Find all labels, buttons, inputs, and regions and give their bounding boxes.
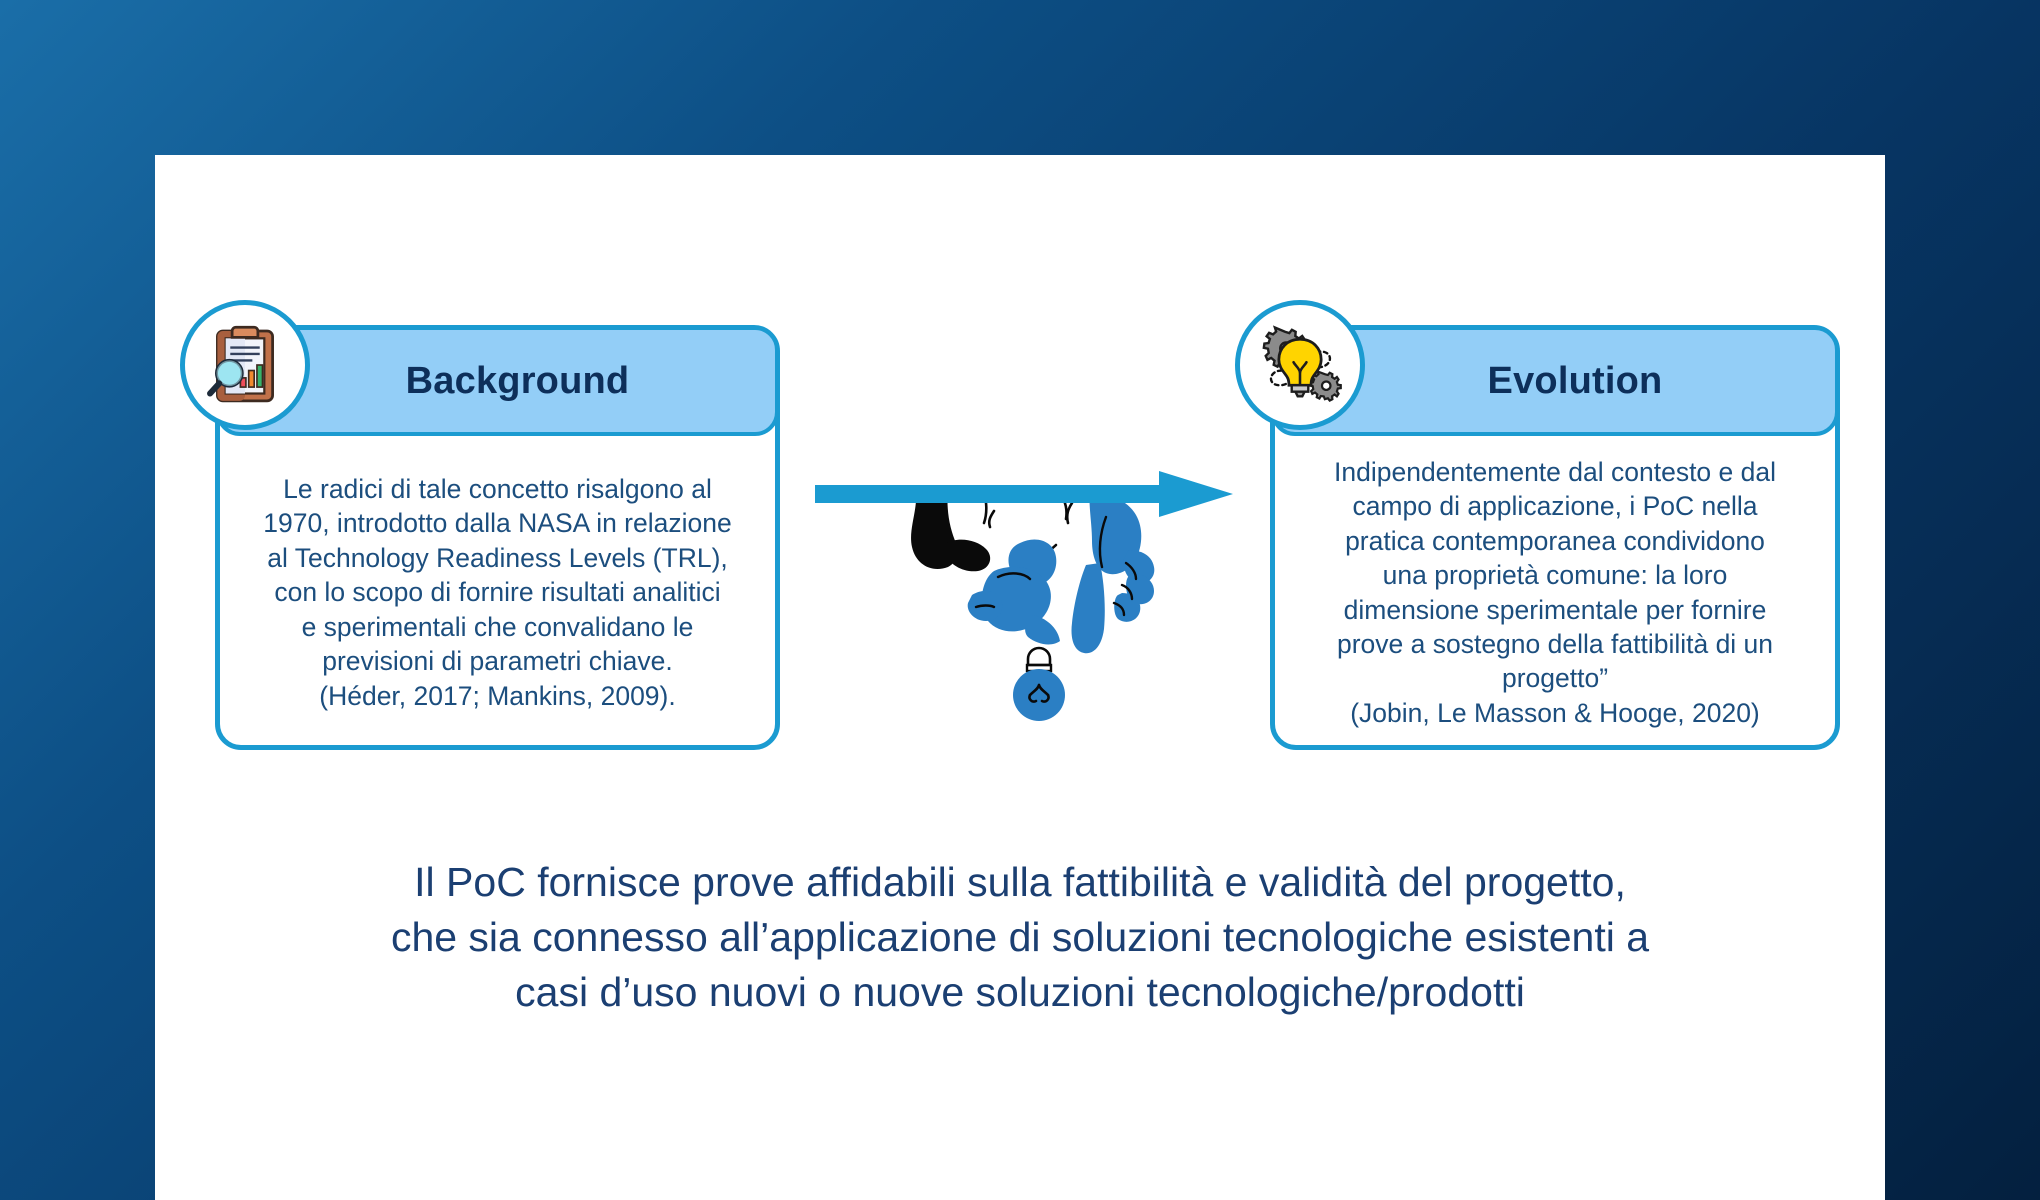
slide-canvas: Background [155,155,1885,1200]
card-background-text: Le radici di tale concetto risalgono al … [263,472,731,713]
card-evolution-body: Indipendentemente dal contesto e dal cam… [1275,448,1835,737]
hands-lightbulb-idea-illustration [860,489,1200,749]
card-evolution-badge [1235,300,1365,430]
card-evolution: Evolution [1270,325,1840,750]
right-arrow-icon [815,470,1235,518]
card-background: Background [215,325,780,750]
clipboard-magnifier-chart-icon [199,319,291,411]
card-background-body: Le radici di tale concetto risalgono al … [220,448,775,737]
card-background-badge [180,300,310,430]
lightbulb-gears-icon [1254,319,1346,411]
card-evolution-text: Indipendentemente dal contesto e dal cam… [1334,455,1776,731]
card-evolution-title: Evolution [1448,360,1663,403]
card-background-title: Background [366,360,630,403]
slide-caption: Il PoC fornisce prove affidabili sulla f… [235,855,1805,1020]
